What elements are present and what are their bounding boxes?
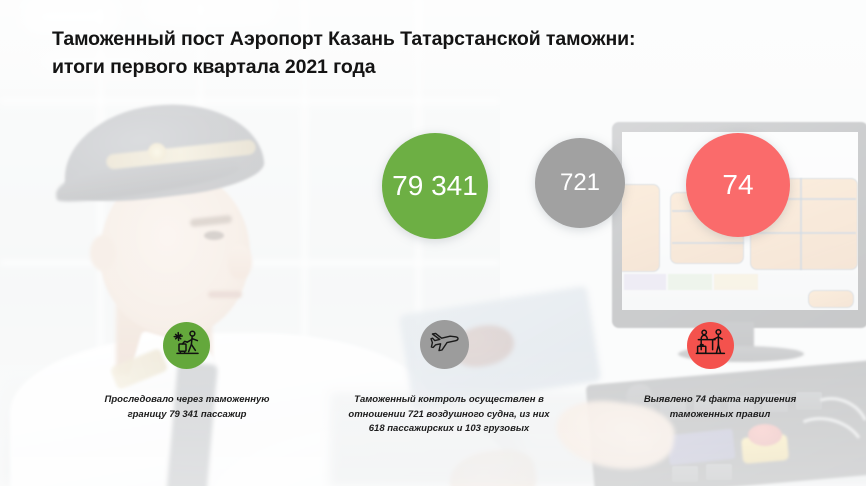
page-title-line-2: итоги первого квартала 2021 года — [52, 54, 752, 82]
page-title-line-1: Таможенный пост Аэропорт Казань Татарста… — [52, 26, 752, 54]
badge-violations — [687, 322, 734, 369]
stat-value-violations: 74 — [722, 169, 753, 201]
stat-circle-passengers: 79 341 — [382, 133, 488, 239]
badge-aircraft — [420, 320, 469, 369]
stat-value-aircraft: 721 — [560, 169, 600, 197]
airplane-icon — [428, 325, 462, 364]
infographic-stage: Таможенный пост Аэропорт Казань Татарста… — [0, 0, 866, 486]
infographic-content: Таможенный пост Аэропорт Казань Татарста… — [0, 0, 866, 486]
caption-aircraft: Таможенный контроль осуществлен в отноше… — [340, 393, 558, 437]
stat-value-passengers: 79 341 — [392, 170, 478, 202]
caption-violations: Выявлено 74 факта нарушения таможенных п… — [625, 393, 815, 422]
stat-circle-aircraft: 721 — [535, 138, 625, 228]
page-title: Таможенный пост Аэропорт Казань Татарста… — [52, 26, 752, 81]
customs-inspection-desk-icon — [695, 327, 727, 364]
stat-circle-violations: 74 — [686, 133, 790, 237]
badge-passengers — [163, 322, 210, 369]
passenger-with-luggage-icon — [171, 327, 203, 364]
caption-passengers: Проследовало через таможенную границу 79… — [96, 393, 278, 422]
